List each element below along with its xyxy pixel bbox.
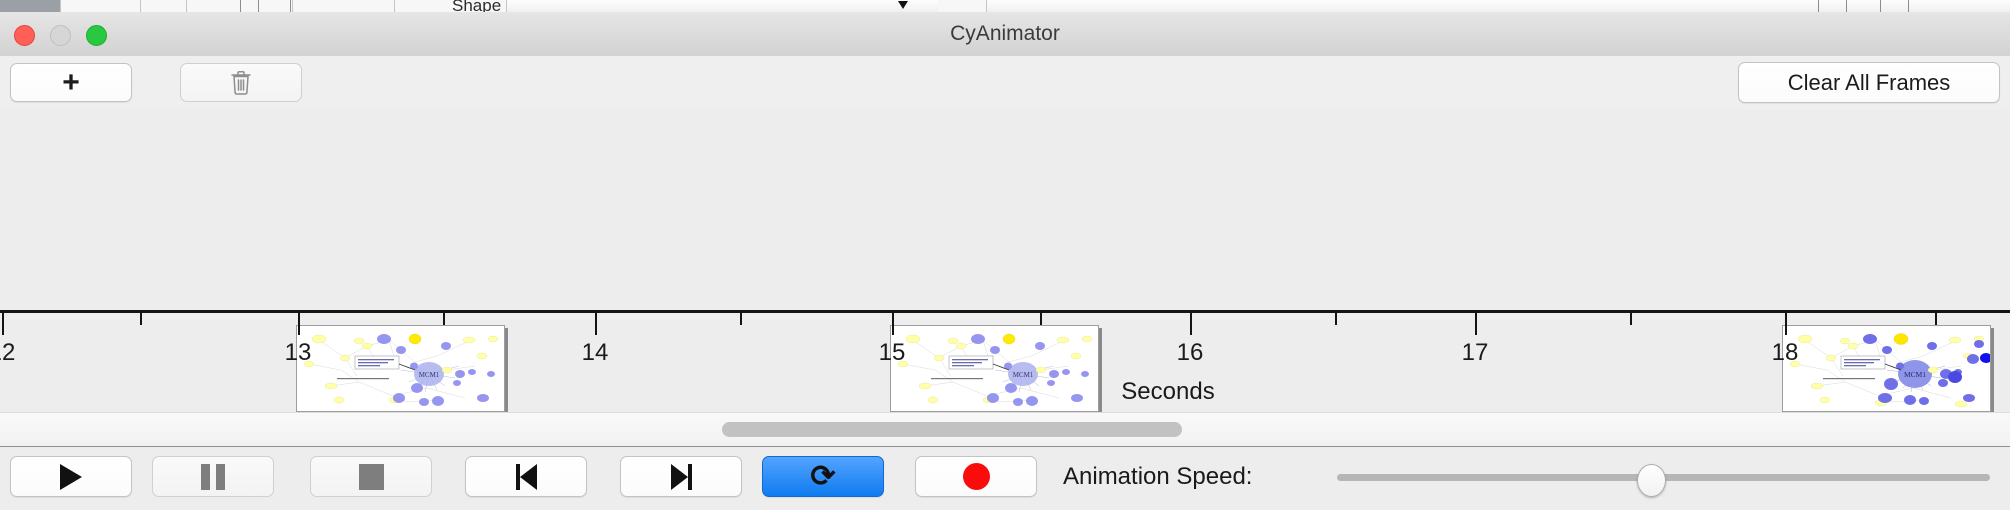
axis-tick-label: 15	[879, 339, 906, 367]
axis-tick-minor	[443, 313, 445, 325]
timeline-axis-line	[0, 310, 2010, 313]
title-bar: CyAnimator	[0, 12, 2010, 57]
axis-tick-label: 13	[285, 339, 312, 367]
add-frame-button[interactable]: +	[10, 63, 132, 102]
stop-button[interactable]	[310, 456, 432, 497]
timeline-frame-thumbnail[interactable]: MCM1	[296, 325, 505, 412]
loop-icon: ⟳	[810, 462, 835, 492]
cyanimator-window: Shape CyAnimator + Clear All Frames	[0, 0, 2010, 510]
record-button[interactable]	[915, 456, 1037, 497]
animation-speed-slider-thumb[interactable]	[1637, 464, 1666, 497]
frame-toolbar: + Clear All Frames	[0, 56, 2010, 110]
axis-caption: Seconds	[1121, 378, 1214, 406]
animation-speed-label: Animation Speed:	[1063, 456, 1252, 497]
axis-tick-major	[892, 313, 894, 335]
axis-tick-major	[1475, 313, 1477, 335]
axis-tick-minor	[140, 313, 142, 325]
play-button[interactable]	[10, 456, 132, 497]
axis-tick-label: 18	[1772, 339, 1799, 367]
axis-tick-label: 14	[582, 339, 609, 367]
loop-button[interactable]: ⟳	[762, 456, 884, 497]
timeline-frame-thumbnail[interactable]: MCM1	[1782, 325, 1991, 412]
delete-frame-button[interactable]	[180, 63, 302, 102]
axis-tick-minor	[1630, 313, 1632, 325]
skip-previous-icon	[516, 464, 537, 490]
svg-text:MCM1: MCM1	[419, 371, 440, 379]
trash-icon	[230, 70, 252, 95]
axis-tick-label: 17	[1462, 339, 1489, 367]
axis-tick-major	[1190, 313, 1192, 335]
axis-tick-minor	[740, 313, 742, 325]
record-icon	[963, 463, 990, 490]
next-frame-button[interactable]	[620, 456, 742, 497]
axis-tick-major	[595, 313, 597, 335]
axis-tick-label: 12	[0, 339, 15, 367]
timeline-panel[interactable]: MCM1	[0, 109, 2010, 412]
svg-text:MCM1: MCM1	[1904, 370, 1926, 379]
timeline-frame-thumbnail[interactable]: MCM1	[890, 325, 1099, 412]
axis-tick-major	[1785, 313, 1787, 335]
play-icon	[60, 464, 82, 490]
axis-tick-label: 16	[1177, 339, 1204, 367]
pause-button[interactable]	[152, 456, 274, 497]
scrollbar-thumb[interactable]	[722, 422, 1182, 437]
stop-icon	[359, 464, 384, 490]
svg-text:MCM1: MCM1	[1013, 371, 1034, 379]
axis-tick-minor	[1335, 313, 1337, 325]
skip-next-icon	[671, 464, 692, 490]
player-toolbar: ⟳ Animation Speed:	[0, 447, 2010, 510]
clear-all-frames-button[interactable]: Clear All Frames	[1738, 62, 2000, 103]
clear-all-frames-label: Clear All Frames	[1788, 70, 1951, 96]
axis-tick-major	[298, 313, 300, 335]
window-title: CyAnimator	[0, 12, 2010, 56]
axis-tick-minor	[1935, 313, 1937, 325]
previous-frame-button[interactable]	[465, 456, 587, 497]
axis-tick-minor	[1040, 313, 1042, 325]
pause-icon	[201, 464, 225, 490]
timeline-scrollbar[interactable]	[0, 412, 2010, 448]
axis-tick-major	[2, 313, 4, 335]
